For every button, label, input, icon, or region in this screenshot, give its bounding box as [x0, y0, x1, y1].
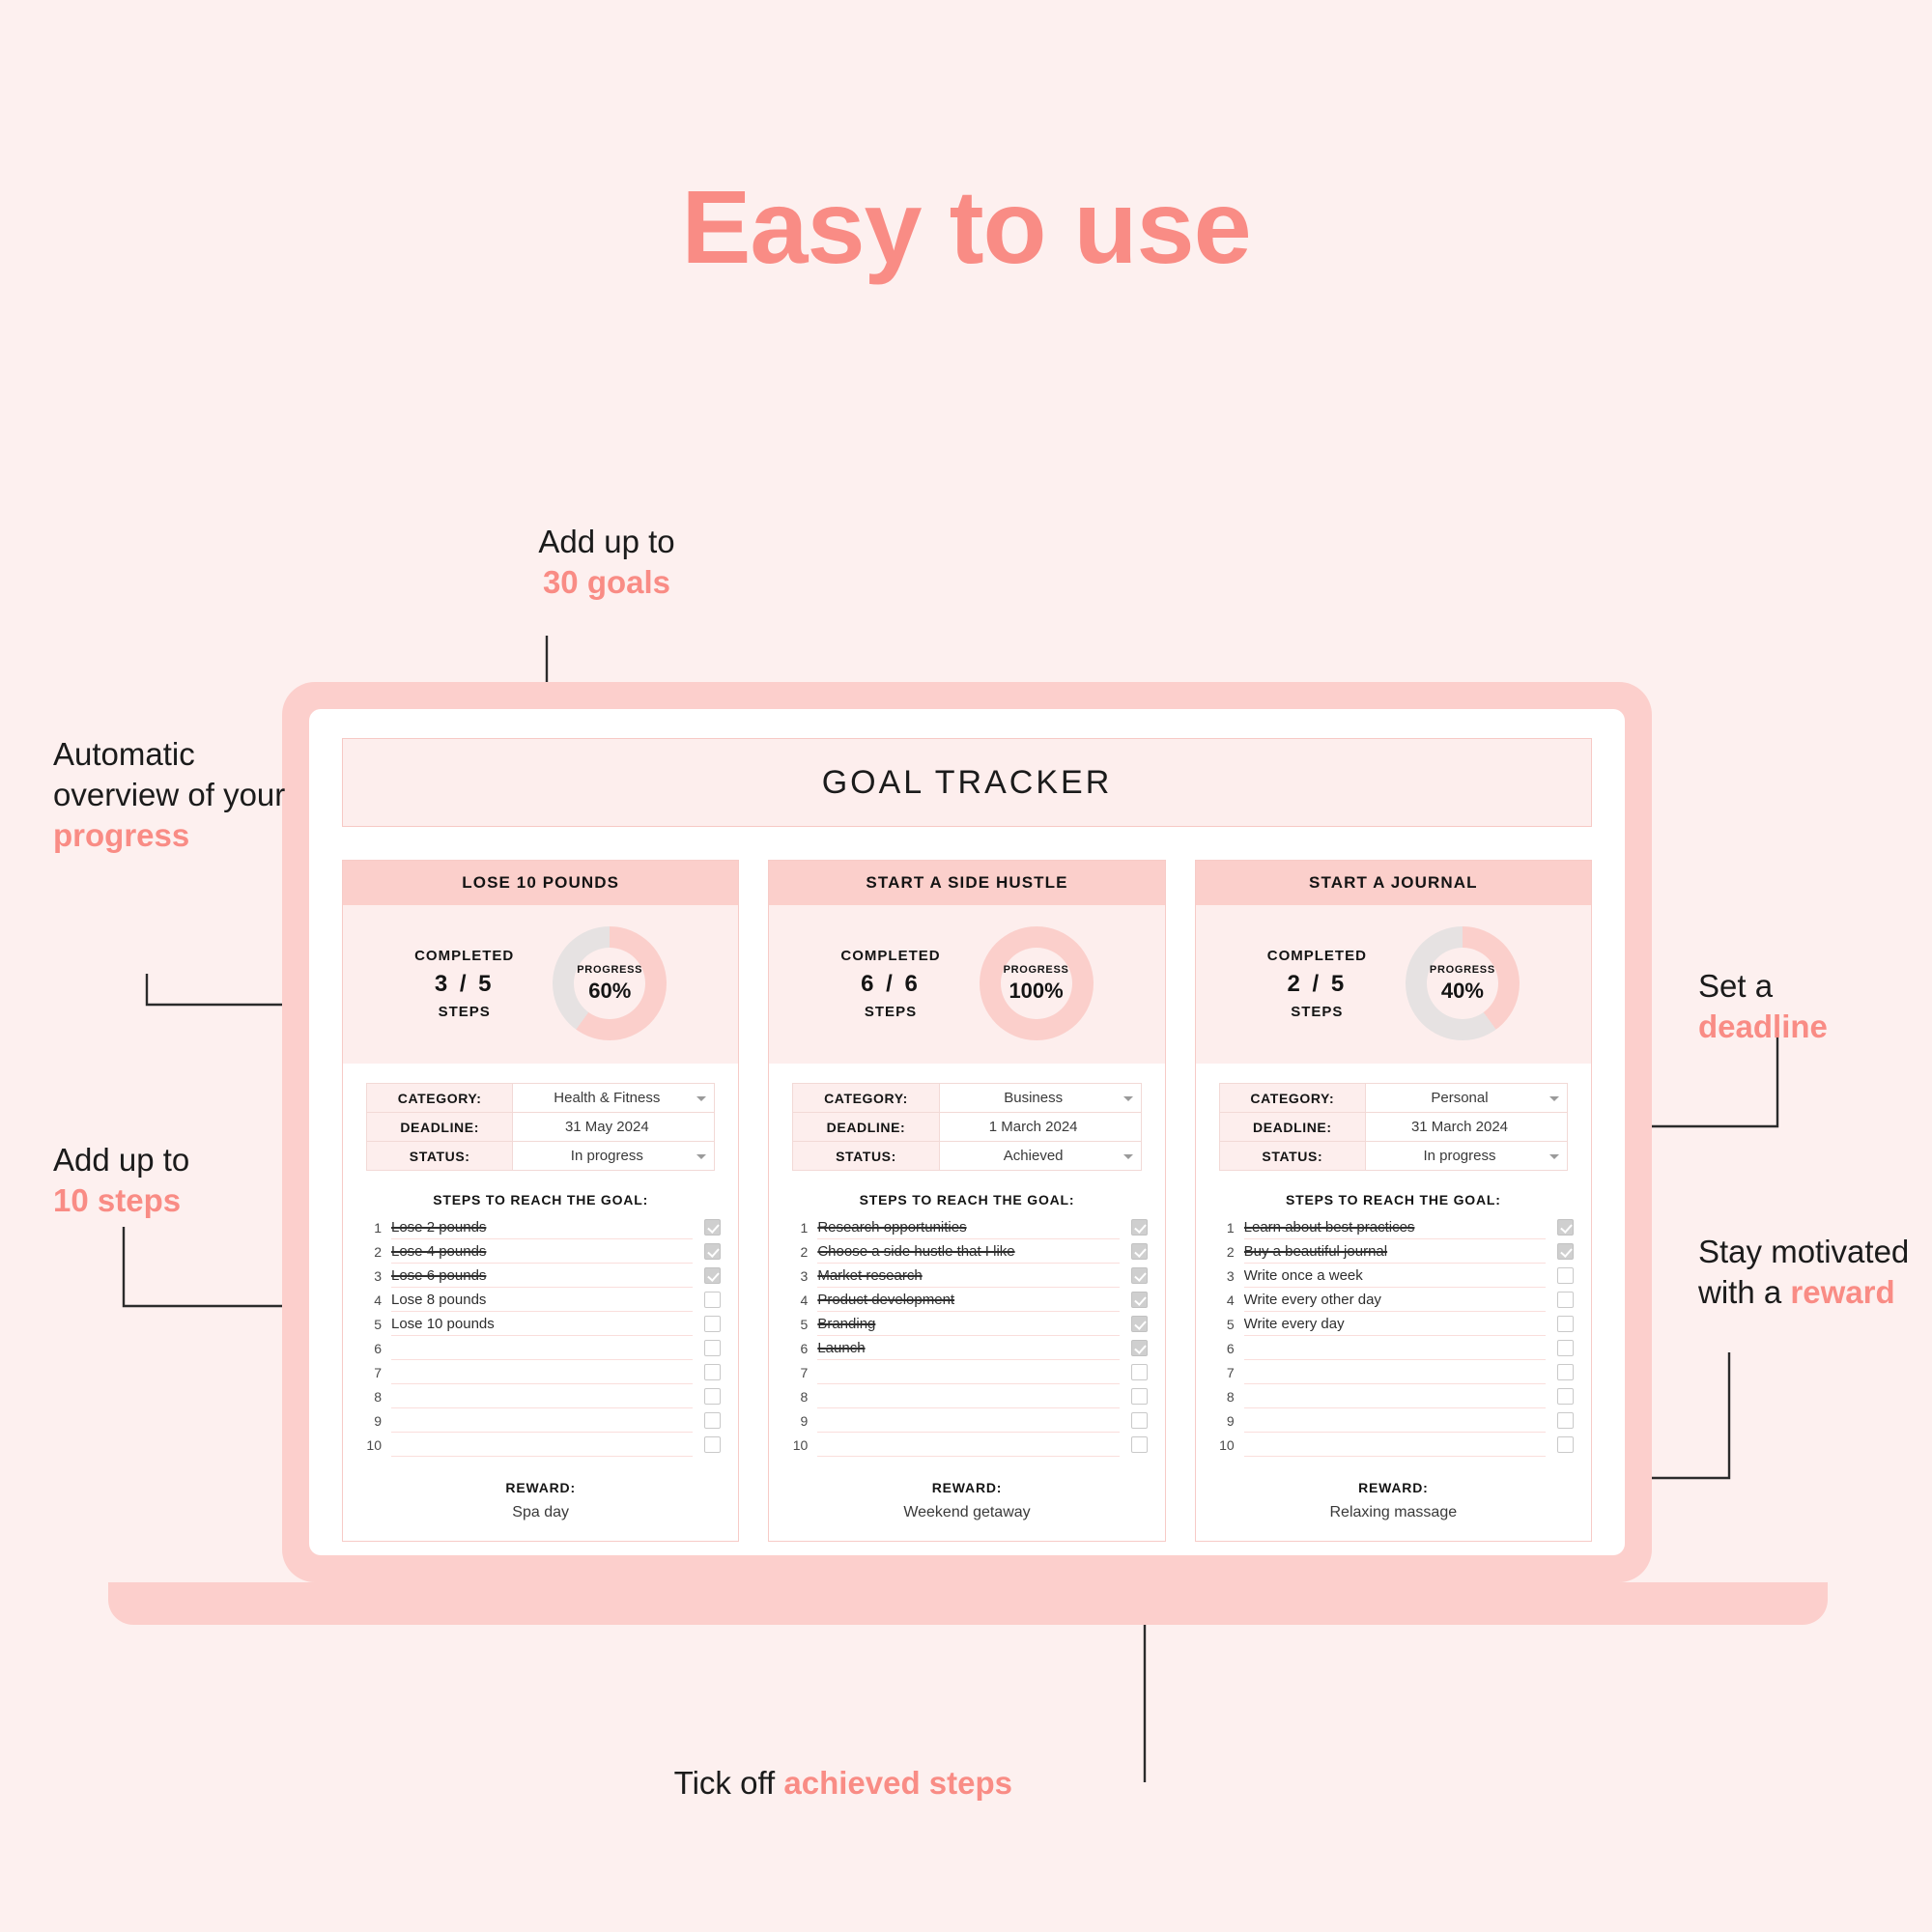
step-number: 9 — [786, 1413, 808, 1429]
steps-list: 1Research opportunities2Choose a side hu… — [786, 1215, 1147, 1457]
meta-row-category: CATEGORY:Personal — [1219, 1084, 1567, 1113]
step-checkbox[interactable] — [704, 1219, 721, 1236]
status-value[interactable]: In progress — [1365, 1142, 1567, 1171]
goal-card-title[interactable]: START A SIDE HUSTLE — [769, 861, 1164, 905]
step-number: 4 — [360, 1293, 382, 1308]
step-row: 10 — [1213, 1433, 1574, 1457]
status-value[interactable]: In progress — [513, 1142, 715, 1171]
step-checkbox[interactable] — [704, 1412, 721, 1429]
step-text[interactable]: Research opportunities — [817, 1215, 1119, 1239]
deadline-value[interactable]: 1 March 2024 — [939, 1113, 1141, 1142]
step-text[interactable]: Branding — [817, 1312, 1119, 1336]
meta-label-deadline: DEADLINE: — [1219, 1113, 1365, 1142]
step-row: 4Lose 8 pounds — [360, 1288, 721, 1312]
step-number: 5 — [1213, 1317, 1235, 1332]
reward-value[interactable]: Spa day — [353, 1504, 728, 1521]
reward-label: REWARD: — [353, 1480, 728, 1495]
step-text[interactable]: Write every day — [1244, 1312, 1546, 1336]
step-checkbox[interactable] — [704, 1292, 721, 1308]
goal-card-stats: COMPLETED2 / 5STEPSPROGRESS40% — [1196, 905, 1591, 1064]
goal-card-stats: COMPLETED3 / 5STEPSPROGRESS60% — [343, 905, 738, 1064]
progress-donut: PROGRESS100% — [980, 926, 1094, 1040]
completed-steps-label: STEPS — [414, 1004, 514, 1020]
laptop-frame: GOAL TRACKER LOSE 10 POUNDSCOMPLETED3 / … — [282, 682, 1652, 1582]
step-row: 1Research opportunities — [786, 1215, 1147, 1239]
deadline-value-text: 1 March 2024 — [989, 1119, 1078, 1135]
step-text[interactable] — [391, 1408, 693, 1433]
steps-header: STEPS TO REACH THE GOAL: — [1196, 1192, 1591, 1207]
reward-value[interactable]: Weekend getaway — [779, 1504, 1154, 1521]
step-row: 7 — [1213, 1360, 1574, 1384]
goal-card: START A JOURNALCOMPLETED2 / 5STEPSPROGRE… — [1195, 860, 1592, 1542]
step-number: 8 — [360, 1389, 382, 1405]
step-checkbox[interactable] — [704, 1388, 721, 1405]
annotation-deadline-accent: deadline — [1698, 1009, 1828, 1044]
step-number: 3 — [1213, 1268, 1235, 1284]
meta-row-category: CATEGORY:Health & Fitness — [367, 1084, 715, 1113]
step-checkbox[interactable] — [704, 1364, 721, 1380]
annotation-steps-plain: Add up to — [53, 1142, 189, 1178]
step-checkbox[interactable] — [1557, 1340, 1574, 1356]
step-text[interactable] — [1244, 1408, 1546, 1433]
progress-label: PROGRESS — [1004, 964, 1069, 976]
meta-label-category: CATEGORY: — [793, 1084, 939, 1113]
step-number: 3 — [360, 1268, 382, 1284]
step-text[interactable]: Product development — [817, 1288, 1119, 1312]
meta-label-status: STATUS: — [1219, 1142, 1365, 1171]
step-row: 7 — [786, 1360, 1147, 1384]
annotation-progress-accent: progress — [53, 817, 189, 853]
step-number: 2 — [1213, 1244, 1235, 1260]
step-checkbox[interactable] — [704, 1340, 721, 1356]
goal-card-title[interactable]: LOSE 10 POUNDS — [343, 861, 738, 905]
step-text[interactable] — [391, 1384, 693, 1408]
goal-meta-table: CATEGORY:Health & FitnessDEADLINE:31 May… — [366, 1083, 715, 1171]
step-text[interactable] — [817, 1408, 1119, 1433]
step-text[interactable]: Lose 8 pounds — [391, 1288, 693, 1312]
meta-row-category: CATEGORY:Business — [793, 1084, 1141, 1113]
step-checkbox[interactable] — [1557, 1412, 1574, 1429]
reward-block: REWARD:Weekend getaway — [769, 1457, 1164, 1541]
annotation-progress: Automatic overview of your progress — [53, 734, 304, 857]
step-checkbox[interactable] — [1131, 1364, 1148, 1380]
meta-row-deadline: DEADLINE:31 May 2024 — [367, 1113, 715, 1142]
step-checkbox[interactable] — [1557, 1316, 1574, 1332]
status-value[interactable]: Achieved — [939, 1142, 1141, 1171]
step-number: 9 — [1213, 1413, 1235, 1429]
category-value[interactable]: Personal — [1365, 1084, 1567, 1113]
annotation-deadline-plain: Set a — [1698, 968, 1773, 1004]
meta-row-status: STATUS:In progress — [1219, 1142, 1567, 1171]
step-checkbox[interactable] — [1557, 1364, 1574, 1380]
completed-label: COMPLETED — [1267, 948, 1367, 964]
step-row: 10 — [786, 1433, 1147, 1457]
annotation-tick-accent: achieved steps — [783, 1765, 1012, 1801]
step-row: 7 — [360, 1360, 721, 1384]
step-checkbox[interactable] — [1131, 1316, 1148, 1332]
status-value-text: In progress — [1423, 1148, 1495, 1164]
step-number: 5 — [360, 1317, 382, 1332]
deadline-value[interactable]: 31 May 2024 — [513, 1113, 715, 1142]
step-number: 10 — [786, 1437, 808, 1453]
annotation-tick: Tick off achieved steps — [587, 1763, 1012, 1804]
step-text[interactable]: Market research — [817, 1264, 1119, 1288]
step-row: 2Lose 4 pounds — [360, 1239, 721, 1264]
annotation-reward-accent: reward — [1790, 1274, 1894, 1310]
progress-label: PROGRESS — [1430, 964, 1495, 976]
status-value-text: In progress — [571, 1148, 643, 1164]
step-row: 3Market research — [786, 1264, 1147, 1288]
step-text[interactable]: Write every other day — [1244, 1288, 1546, 1312]
category-value-text: Business — [1004, 1090, 1063, 1106]
category-value-text: Health & Fitness — [554, 1090, 660, 1106]
meta-label-deadline: DEADLINE: — [793, 1113, 939, 1142]
completed-label: COMPLETED — [840, 948, 940, 964]
step-text[interactable]: Launch — [817, 1336, 1119, 1360]
goal-card-stats: COMPLETED6 / 6STEPSPROGRESS100% — [769, 905, 1164, 1064]
steps-header: STEPS TO REACH THE GOAL: — [769, 1192, 1164, 1207]
step-row: 5Lose 10 pounds — [360, 1312, 721, 1336]
step-text[interactable]: Lose 6 pounds — [391, 1264, 693, 1288]
meta-row-deadline: DEADLINE:1 March 2024 — [793, 1113, 1141, 1142]
steps-list: 1Lose 2 pounds2Lose 4 pounds3Lose 6 poun… — [360, 1215, 721, 1457]
step-checkbox[interactable] — [1557, 1267, 1574, 1284]
tracker-header: GOAL TRACKER — [342, 738, 1592, 827]
goal-card: START A SIDE HUSTLECOMPLETED6 / 6STEPSPR… — [768, 860, 1165, 1542]
step-text[interactable] — [1244, 1360, 1546, 1384]
step-number: 10 — [1213, 1437, 1235, 1453]
step-text[interactable] — [817, 1433, 1119, 1457]
chevron-down-icon[interactable] — [1549, 1154, 1559, 1159]
step-text[interactable] — [391, 1433, 693, 1457]
goal-meta-table: CATEGORY:PersonalDEADLINE:31 March 2024S… — [1219, 1083, 1568, 1171]
progress-donut-center: PROGRESS100% — [1001, 948, 1072, 1019]
category-value[interactable]: Business — [939, 1084, 1141, 1113]
goal-cards-row: LOSE 10 POUNDSCOMPLETED3 / 5STEPSPROGRES… — [342, 860, 1592, 1542]
step-number: 6 — [1213, 1341, 1235, 1356]
completed-block: COMPLETED2 / 5STEPS — [1267, 948, 1367, 1020]
steps-list: 1Learn about best practices2Buy a beauti… — [1213, 1215, 1574, 1457]
meta-label-status: STATUS: — [367, 1142, 513, 1171]
annotation-steps: Add up to 10 steps — [53, 1140, 324, 1221]
step-text[interactable]: Learn about best practices — [1244, 1215, 1546, 1239]
progress-value: 60% — [588, 979, 631, 1004]
step-number: 8 — [1213, 1389, 1235, 1405]
step-text[interactable] — [391, 1360, 693, 1384]
poster-canvas: Easy to use GOAL TRACKER LOSE 10 POUNDSC… — [0, 0, 1932, 1932]
step-checkbox[interactable] — [1131, 1340, 1148, 1356]
step-text[interactable]: Lose 2 pounds — [391, 1215, 693, 1239]
completed-steps-label: STEPS — [840, 1004, 940, 1020]
deadline-value-text: 31 March 2024 — [1411, 1119, 1508, 1135]
step-text[interactable] — [817, 1360, 1119, 1384]
step-row: 8 — [786, 1384, 1147, 1408]
step-row: 10 — [360, 1433, 721, 1457]
step-row: 9 — [1213, 1408, 1574, 1433]
annotation-goals-plain: Add up to — [538, 524, 674, 559]
laptop-screen: GOAL TRACKER LOSE 10 POUNDSCOMPLETED3 / … — [309, 709, 1625, 1555]
step-text[interactable]: Lose 10 pounds — [391, 1312, 693, 1336]
meta-label-category: CATEGORY: — [1219, 1084, 1365, 1113]
category-value[interactable]: Health & Fitness — [513, 1084, 715, 1113]
meta-label-deadline: DEADLINE: — [367, 1113, 513, 1142]
chevron-down-icon[interactable] — [696, 1096, 706, 1101]
step-row: 8 — [1213, 1384, 1574, 1408]
step-text[interactable] — [391, 1336, 693, 1360]
step-checkbox[interactable] — [1131, 1292, 1148, 1308]
step-checkbox[interactable] — [1131, 1267, 1148, 1284]
step-checkbox[interactable] — [1131, 1243, 1148, 1260]
meta-label-status: STATUS: — [793, 1142, 939, 1171]
chevron-down-icon[interactable] — [1123, 1096, 1133, 1101]
step-row: 3Write once a week — [1213, 1264, 1574, 1288]
progress-value: 100% — [1009, 979, 1063, 1004]
reward-block: REWARD:Relaxing massage — [1196, 1457, 1591, 1541]
completed-fraction: 3 / 5 — [414, 971, 514, 998]
step-row: 9 — [360, 1408, 721, 1433]
step-number: 2 — [360, 1244, 382, 1260]
step-text[interactable]: Lose 4 pounds — [391, 1239, 693, 1264]
annotation-progress-plain: Automatic overview of your — [53, 736, 285, 812]
step-number: 7 — [1213, 1365, 1235, 1380]
step-row: 1Lose 2 pounds — [360, 1215, 721, 1239]
completed-fraction: 6 / 6 — [840, 971, 940, 998]
step-number: 7 — [786, 1365, 808, 1380]
chevron-down-icon[interactable] — [696, 1154, 706, 1159]
annotation-tick-plain: Tick off — [674, 1765, 776, 1801]
step-number: 3 — [786, 1268, 808, 1284]
reward-block: REWARD:Spa day — [343, 1457, 738, 1541]
completed-steps-label: STEPS — [1267, 1004, 1367, 1020]
category-value-text: Personal — [1431, 1090, 1488, 1106]
deadline-value[interactable]: 31 March 2024 — [1365, 1113, 1567, 1142]
annotation-deadline: Set a deadline — [1698, 966, 1930, 1047]
step-row: 9 — [786, 1408, 1147, 1433]
progress-donut-center: PROGRESS40% — [1427, 948, 1498, 1019]
step-number: 8 — [786, 1389, 808, 1405]
step-row: 6 — [1213, 1336, 1574, 1360]
goal-card-title[interactable]: START A JOURNAL — [1196, 861, 1591, 905]
step-checkbox[interactable] — [1557, 1292, 1574, 1308]
reward-label: REWARD: — [779, 1480, 1154, 1495]
meta-row-status: STATUS:In progress — [367, 1142, 715, 1171]
step-checkbox[interactable] — [1557, 1243, 1574, 1260]
step-number: 2 — [786, 1244, 808, 1260]
annotation-steps-accent: 10 steps — [53, 1182, 181, 1218]
meta-label-category: CATEGORY: — [367, 1084, 513, 1113]
step-number: 10 — [360, 1437, 382, 1453]
step-number: 7 — [360, 1365, 382, 1380]
step-row: 2Buy a beautiful journal — [1213, 1239, 1574, 1264]
step-row: 3Lose 6 pounds — [360, 1264, 721, 1288]
step-row: 2Choose a side hustle that I like — [786, 1239, 1147, 1264]
step-checkbox[interactable] — [1131, 1412, 1148, 1429]
completed-label: COMPLETED — [414, 948, 514, 964]
step-row: 8 — [360, 1384, 721, 1408]
step-checkbox[interactable] — [1131, 1436, 1148, 1453]
annotation-goals-accent: 30 goals — [543, 564, 670, 600]
goal-card: LOSE 10 POUNDSCOMPLETED3 / 5STEPSPROGRES… — [342, 860, 739, 1542]
laptop-base — [108, 1582, 1828, 1625]
progress-label: PROGRESS — [577, 964, 642, 976]
deadline-value-text: 31 May 2024 — [565, 1119, 649, 1135]
progress-value: 40% — [1441, 979, 1484, 1004]
step-checkbox[interactable] — [1131, 1219, 1148, 1236]
step-text[interactable] — [1244, 1384, 1546, 1408]
step-number: 1 — [1213, 1220, 1235, 1236]
steps-header: STEPS TO REACH THE GOAL: — [343, 1192, 738, 1207]
status-value-text: Achieved — [1004, 1148, 1064, 1164]
page-title: Easy to use — [0, 172, 1932, 281]
meta-row-status: STATUS:Achieved — [793, 1142, 1141, 1171]
step-number: 1 — [360, 1220, 382, 1236]
step-number: 6 — [360, 1341, 382, 1356]
reward-label: REWARD: — [1206, 1480, 1581, 1495]
step-checkbox[interactable] — [704, 1316, 721, 1332]
step-row: 1Learn about best practices — [1213, 1215, 1574, 1239]
step-number: 1 — [786, 1220, 808, 1236]
annotation-goals: Add up to 30 goals — [462, 522, 752, 603]
step-row: 5Write every day — [1213, 1312, 1574, 1336]
goal-meta-table: CATEGORY:BusinessDEADLINE:1 March 2024ST… — [792, 1083, 1141, 1171]
step-text[interactable]: Buy a beautiful journal — [1244, 1239, 1546, 1264]
step-row: 6Launch — [786, 1336, 1147, 1360]
step-text[interactable]: Write once a week — [1244, 1264, 1546, 1288]
step-text[interactable] — [817, 1384, 1119, 1408]
step-row: 5Branding — [786, 1312, 1147, 1336]
step-number: 9 — [360, 1413, 382, 1429]
step-checkbox[interactable] — [1557, 1436, 1574, 1453]
step-row: 4Product development — [786, 1288, 1147, 1312]
step-checkbox[interactable] — [704, 1436, 721, 1453]
meta-row-deadline: DEADLINE:31 March 2024 — [1219, 1113, 1567, 1142]
progress-donut: PROGRESS60% — [553, 926, 667, 1040]
step-row: 4Write every other day — [1213, 1288, 1574, 1312]
progress-donut: PROGRESS40% — [1406, 926, 1520, 1040]
step-checkbox[interactable] — [1557, 1388, 1574, 1405]
step-row: 6 — [360, 1336, 721, 1360]
step-checkbox[interactable] — [1557, 1219, 1574, 1236]
annotation-reward: Stay motivated with a reward — [1698, 1232, 1920, 1313]
completed-block: COMPLETED6 / 6STEPS — [840, 948, 940, 1020]
step-number: 4 — [786, 1293, 808, 1308]
chevron-down-icon[interactable] — [1123, 1154, 1133, 1159]
chevron-down-icon[interactable] — [1549, 1096, 1559, 1101]
step-text[interactable]: Choose a side hustle that I like — [817, 1239, 1119, 1264]
reward-value[interactable]: Relaxing massage — [1206, 1504, 1581, 1521]
step-checkbox[interactable] — [1131, 1388, 1148, 1405]
tracker-title: GOAL TRACKER — [822, 764, 1113, 802]
completed-block: COMPLETED3 / 5STEPS — [414, 948, 514, 1020]
progress-donut-center: PROGRESS60% — [574, 948, 645, 1019]
completed-fraction: 2 / 5 — [1267, 971, 1367, 998]
step-text[interactable] — [1244, 1433, 1546, 1457]
step-number: 4 — [1213, 1293, 1235, 1308]
step-checkbox[interactable] — [704, 1243, 721, 1260]
step-text[interactable] — [1244, 1336, 1546, 1360]
step-number: 6 — [786, 1341, 808, 1356]
step-checkbox[interactable] — [704, 1267, 721, 1284]
step-number: 5 — [786, 1317, 808, 1332]
